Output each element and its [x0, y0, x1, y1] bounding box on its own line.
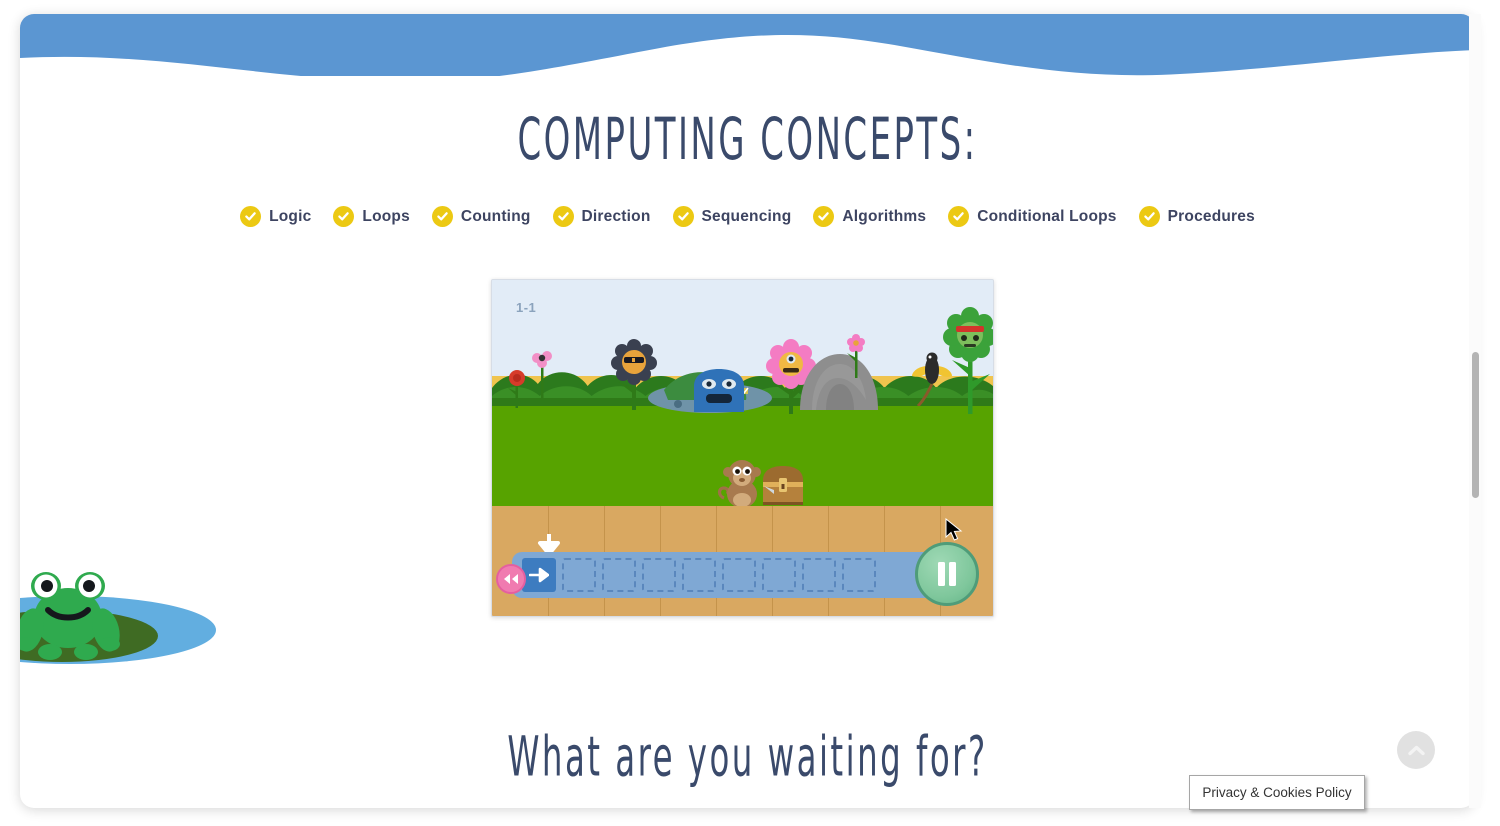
check-circle-icon	[948, 206, 969, 227]
concept-label: Algorithms	[842, 208, 926, 226]
command-tile-move-right[interactable]	[522, 558, 556, 592]
concept-label: Counting	[461, 208, 531, 226]
pause-icon	[936, 561, 958, 587]
command-slot-empty[interactable]	[802, 558, 836, 592]
game-preview-panel[interactable]: 1-1	[491, 279, 994, 617]
command-slot-empty[interactable]	[642, 558, 676, 592]
rewind-icon	[503, 573, 519, 585]
command-slot-empty[interactable]	[682, 558, 716, 592]
chevron-up-icon	[1408, 745, 1425, 756]
program-sequence-bar[interactable]	[512, 552, 962, 598]
check-circle-icon	[333, 206, 354, 227]
red-flower-sprite	[506, 368, 528, 408]
rock-cave-sprite	[796, 352, 882, 410]
concept-label: Conditional Loops	[977, 208, 1116, 226]
concept-label: Sequencing	[702, 208, 792, 226]
pause-button[interactable]	[915, 542, 979, 606]
computing-concepts-title: COMPUTING CONCEPTS:	[151, 103, 1344, 176]
wave-header-banner	[20, 14, 1475, 100]
game-stage: 1-1	[492, 280, 993, 616]
command-slot-empty[interactable]	[602, 558, 636, 592]
page-sheet: COMPUTING CONCEPTS: Logic Loops Counting	[20, 14, 1475, 808]
concept-item-algorithms: Algorithms	[813, 206, 926, 227]
rock-flower-sprite	[844, 332, 868, 378]
concept-label: Loops	[362, 208, 410, 226]
command-slot-empty[interactable]	[842, 558, 876, 592]
rewind-button[interactable]	[496, 564, 526, 594]
concept-item-procedures: Procedures	[1139, 206, 1255, 227]
computing-concepts-list: Logic Loops Counting Direction	[20, 206, 1475, 227]
check-circle-icon	[240, 206, 261, 227]
concept-item-conditional-loops: Conditional Loops	[948, 206, 1116, 227]
browser-viewport: COMPUTING CONCEPTS: Logic Loops Counting	[0, 0, 1500, 826]
game-level-label: 1-1	[516, 300, 536, 315]
check-circle-icon	[813, 206, 834, 227]
treasure-chest-sprite	[760, 464, 806, 506]
privacy-cookies-policy-banner[interactable]: Privacy & Cookies Policy	[1189, 775, 1365, 810]
arrow-right-icon	[529, 567, 549, 583]
concept-item-sequencing: Sequencing	[673, 206, 792, 227]
command-slot-empty[interactable]	[722, 558, 756, 592]
frog-on-lilypad-graphic	[20, 562, 240, 674]
green-flower-headband-sprite	[942, 306, 994, 414]
check-circle-icon	[673, 206, 694, 227]
concept-label: Procedures	[1168, 208, 1255, 226]
blue-creature-sprite	[690, 368, 748, 412]
check-circle-icon	[1139, 206, 1160, 227]
wave-foam-graphic	[20, 14, 1475, 100]
concept-item-loops: Loops	[333, 206, 410, 227]
privacy-banner-label: Privacy & Cookies Policy	[1202, 785, 1351, 800]
check-circle-icon	[553, 206, 574, 227]
concept-item-logic: Logic	[240, 206, 311, 227]
check-circle-icon	[432, 206, 453, 227]
concept-label: Direction	[582, 208, 651, 226]
concept-item-counting: Counting	[432, 206, 531, 227]
command-slot-empty[interactable]	[562, 558, 596, 592]
page-scrollbar-thumb[interactable]	[1472, 352, 1479, 498]
cta-title: What are you waiting for?	[151, 723, 1344, 793]
pink-flower-sprite	[528, 346, 558, 402]
scroll-to-top-button[interactable]	[1397, 731, 1435, 769]
concept-label: Logic	[269, 208, 311, 226]
command-slot-empty[interactable]	[762, 558, 796, 592]
concept-item-direction: Direction	[553, 206, 651, 227]
